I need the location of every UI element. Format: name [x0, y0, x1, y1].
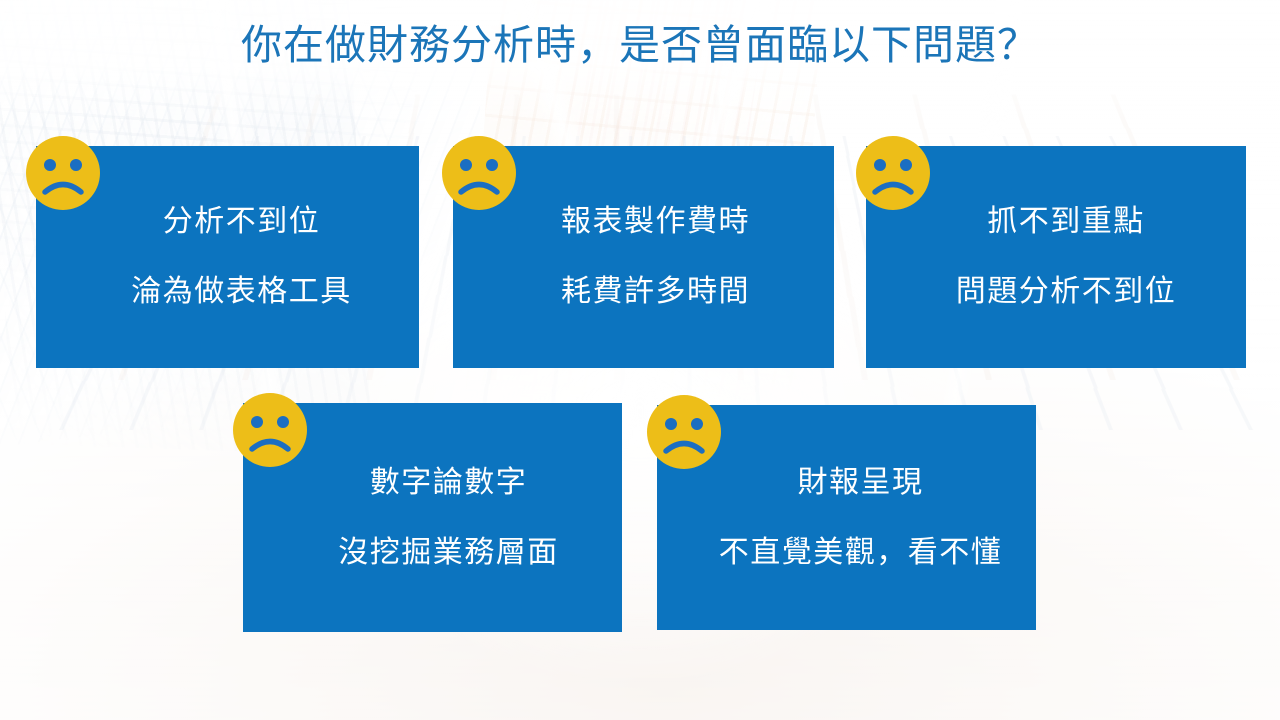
- problem-card-3-line2: 問題分析不到位: [956, 277, 1177, 307]
- sad-face-icon: [26, 136, 100, 210]
- presentation-slide: 你在做財務分析時，是否曾面臨以下問題？ 分析不到位 淪為做表格工具 報表製作費時…: [0, 0, 1280, 720]
- problem-card-1-line2: 淪為做表格工具: [131, 277, 352, 307]
- problem-card-5-text: 財報呈現 不直覺美觀，看不懂: [719, 468, 1003, 568]
- problem-card-1-text: 分析不到位 淪為做表格工具: [131, 207, 352, 307]
- problem-card-2-line1: 報表製作費時: [561, 207, 750, 237]
- problem-card-2-text: 報表製作費時 耗費許多時間: [561, 207, 750, 307]
- problem-card-1-line1: 分析不到位: [163, 207, 321, 237]
- problem-card-5-line2: 不直覺美觀，看不懂: [719, 538, 1003, 568]
- sad-face-icon: [233, 393, 307, 467]
- problem-card-5-line1: 財報呈現: [798, 468, 924, 498]
- problem-card-4-line1: 數字論數字: [370, 468, 528, 498]
- sad-face-icon: [856, 136, 930, 210]
- page-title: 你在做財務分析時，是否曾面臨以下問題？: [0, 20, 1280, 71]
- sad-face-icon: [442, 136, 516, 210]
- problem-card-4-text: 數字論數字 沒挖掘業務層面: [338, 468, 559, 568]
- problem-card-2-line2: 耗費許多時間: [561, 277, 750, 307]
- problem-card-3-text: 抓不到重點 問題分析不到位: [956, 207, 1177, 307]
- problem-card-3-line1: 抓不到重點: [987, 207, 1145, 237]
- sad-face-icon: [647, 395, 721, 469]
- problem-card-4-line2: 沒挖掘業務層面: [338, 538, 559, 568]
